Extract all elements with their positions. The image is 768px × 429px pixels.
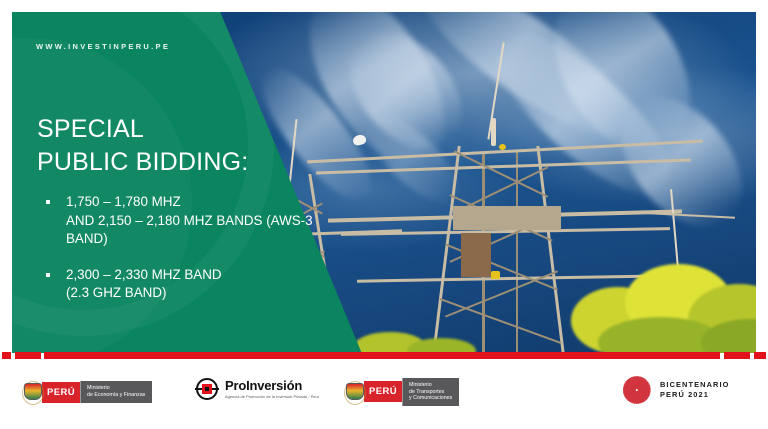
logo-mtc: PERÚ Ministerio de Transportes y Comunic… [344,378,459,406]
red-dash-left2 [15,352,41,359]
bicentenario-wordmark: BICENTENARIO PERÚ 2021 [660,380,729,399]
bullet-square-icon [46,200,50,204]
red-dash-right [724,352,750,359]
bullet-list: 1,750 – 1,780 MHZ AND 2,150 – 2,180 MHZ … [37,193,467,320]
proinversion-wordmark: ProInversión [225,379,319,392]
proinversion-mark-icon [196,378,218,400]
peru-coat-of-arms-icon [344,381,364,403]
proinversion-tagline: Agencia de Promoción de la Inversión Pri… [225,394,319,399]
red-dash-right2 [754,352,766,359]
red-divider-bar [0,352,768,359]
red-bar-main [44,352,720,359]
logo-mef: PERÚ Ministerio de Economía y Finanzas [22,381,152,403]
website-url: WWW.INVESTINPERU.PE [36,42,170,51]
list-item: 2,300 – 2,330 MHZ BAND (2.3 GHZ BAND) [37,266,467,303]
bullet-text: 1,750 – 1,780 MHZ AND 2,150 – 2,180 MHZ … [66,193,313,249]
logo-bicentenario: BICENTENARIO PERÚ 2021 [622,375,729,405]
bicentenario-sunburst-icon [622,375,652,405]
peru-coat-of-arms-icon [22,381,42,403]
ministry-name: Ministerio de Economía y Finanzas [80,381,152,402]
list-item: 1,750 – 1,780 MHZ AND 2,150 – 2,180 MHZ … [37,193,467,249]
peru-wordmark: PERÚ [42,382,80,403]
page-title: SPECIAL PUBLIC BIDDING: [37,113,248,179]
bullet-square-icon [46,273,50,277]
slide-root: WWW.INVESTINPERU.PE SPECIAL PUBLIC BIDDI… [0,0,768,429]
red-dash-left [2,352,11,359]
ministry-name: Ministerio de Transportes y Comunicacion… [402,378,459,406]
footer-logos: PERÚ Ministerio de Economía y Finanzas P… [0,359,768,429]
logo-proinversion: ProInversión Agencia de Promoción de la … [196,378,319,400]
slide-text: WWW.INVESTINPERU.PE SPECIAL PUBLIC BIDDI… [12,12,756,353]
bullet-text: 2,300 – 2,330 MHZ BAND (2.3 GHZ BAND) [66,266,222,303]
peru-wordmark: PERÚ [364,381,402,402]
